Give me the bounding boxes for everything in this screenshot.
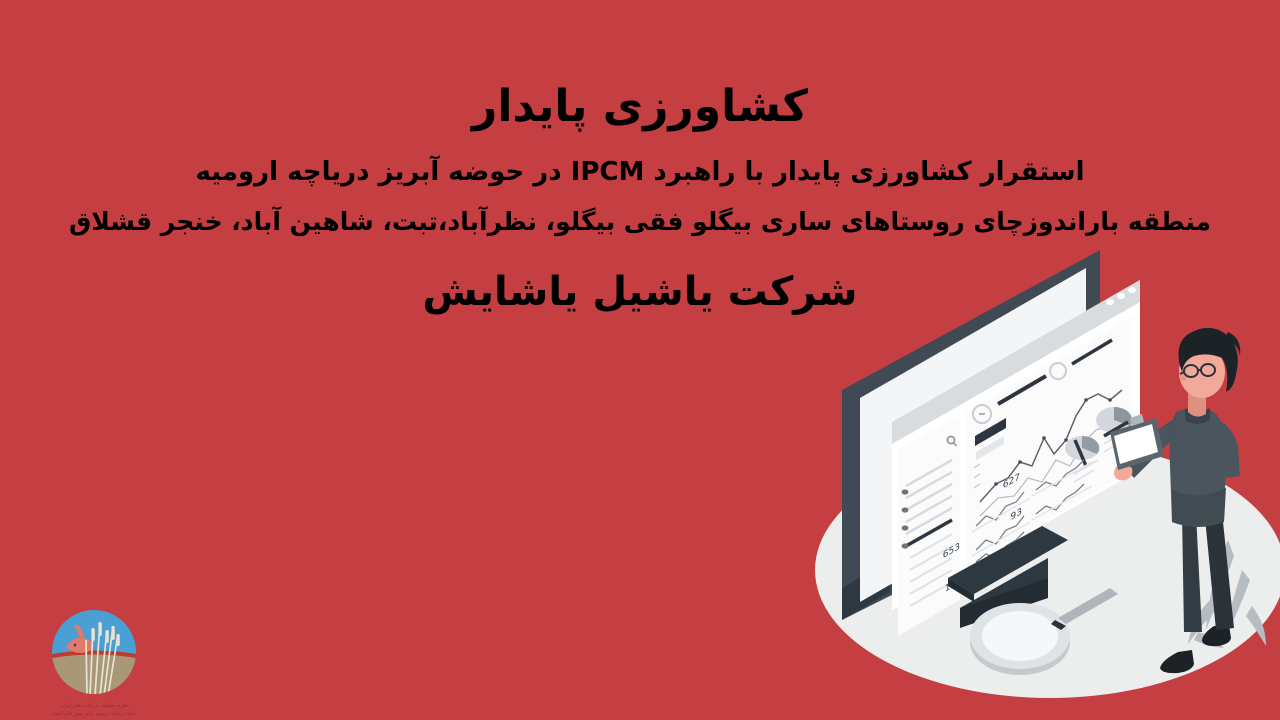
logo-caption-line-1: طرح حفاظت از تالاب های ایران — [28, 702, 160, 710]
subtitle-segment-before: استقرار کشاورزی پایدار با راهبرد — [644, 157, 1084, 187]
page-title: کشاورزی پایدار — [0, 82, 1280, 133]
organization-logo — [38, 600, 150, 712]
presentation-slide: کشاورزی پایدار استقرار کشاورزی پایدار با… — [0, 0, 1280, 720]
hero-illustration: 627 653 93 120 — [810, 240, 1280, 700]
logo-caption-line-2: احیاء دریاچه ارومیه برای نسل های آینده — [28, 710, 160, 718]
ipcm-acronym: IPCM — [571, 157, 645, 188]
sidebar-menu — [898, 415, 960, 636]
subtitle-segment-after: در حوضه آبریز دریاچه ارومیه — [196, 157, 571, 187]
slide-subtitle-line-2: منطقه باراندوزچای روستاهای ساری بیگلو فق… — [0, 207, 1280, 237]
logo-caption: طرح حفاظت از تالاب های ایران احیاء دریاچ… — [28, 702, 160, 718]
slide-subtitle-line-1: استقرار کشاورزی پایدار با راهبرد IPCM در… — [0, 157, 1280, 188]
